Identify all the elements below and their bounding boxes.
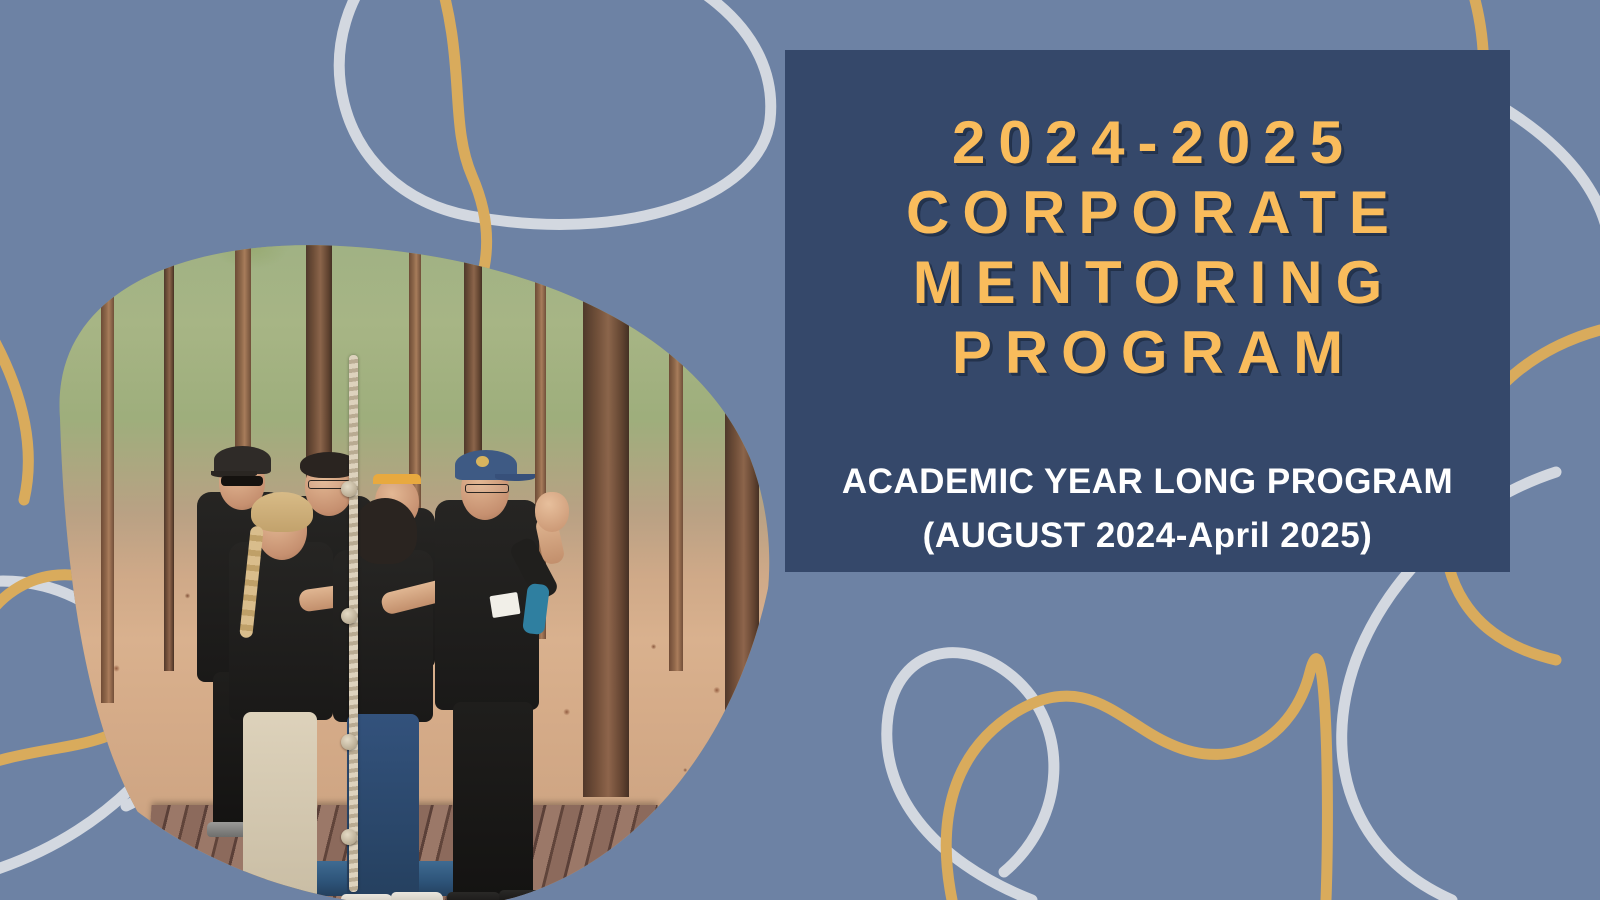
deco-blob-outline-gold-bottom — [946, 659, 1327, 900]
rope-knot-mid — [341, 608, 357, 624]
subtitle-line-dates: (AUGUST 2024-April 2025) — [785, 509, 1510, 563]
text-panel: 2024-2025 CORPORATE MENTORING PROGRAM AC… — [785, 50, 1510, 572]
program-subtitle: ACADEMIC YEAR LONG PROGRAM (AUGUST 2024-… — [785, 455, 1510, 563]
deco-blob-outline-light-bottom — [887, 653, 1054, 900]
deco-blob-outline-gold-topleft — [0, 300, 28, 500]
flyer-canvas: 2024-2025 CORPORATE MENTORING PROGRAM AC… — [0, 0, 1600, 900]
forest-scene — [0, 118, 780, 900]
rope-knot-lower — [341, 734, 357, 750]
student-group — [195, 434, 606, 900]
title-line-corporate: CORPORATE — [785, 178, 1510, 248]
title-line-year: 2024-2025 — [785, 108, 1510, 178]
deco-blob-outline-light-top — [339, 0, 770, 224]
program-title: 2024-2025 CORPORATE MENTORING PROGRAM — [785, 108, 1510, 388]
photo-blob — [0, 118, 780, 900]
subtitle-line-duration: ACADEMIC YEAR LONG PROGRAM — [785, 455, 1510, 509]
rope-knot-bottom — [341, 829, 357, 845]
title-line-mentoring: MENTORING — [785, 248, 1510, 318]
title-line-program: PROGRAM — [785, 318, 1510, 388]
